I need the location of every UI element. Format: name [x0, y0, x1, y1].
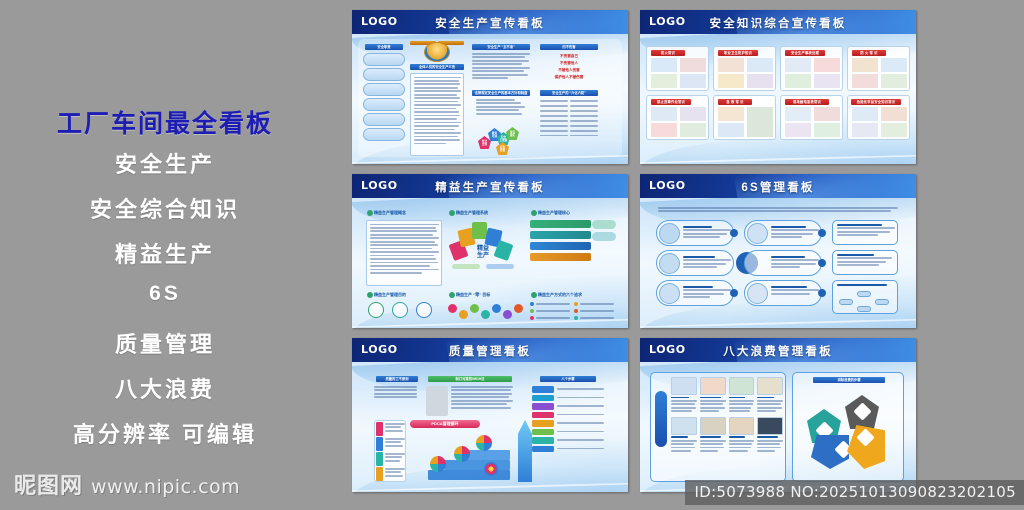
poster-title: 6S管理看板	[640, 179, 916, 195]
illustration	[881, 74, 907, 88]
waste-item[interactable]	[729, 377, 755, 414]
poster-body: 防火常识 职业卫生防护知识 安全生产事故处理	[640, 34, 916, 164]
illustration	[881, 123, 907, 137]
illustration	[718, 74, 744, 88]
five-nos-list	[472, 53, 530, 81]
photo-icon	[659, 223, 680, 244]
promo-line-5: 质量管理	[0, 327, 330, 359]
card-caption: 职业卫生防护知识	[718, 50, 758, 56]
card-caption: 现场触电急救常识	[785, 99, 829, 105]
section-caption: 安全生产的 “六化六防”	[540, 90, 598, 96]
knowledge-card[interactable]: 禁止违章作业常识	[646, 95, 709, 140]
illustration	[651, 58, 677, 72]
poster-body: 安全职责 全体人员的安全生产义务	[352, 34, 628, 164]
6s-item-seiso[interactable]	[656, 280, 734, 306]
card-caption: 危险化学品安全知识常识	[851, 99, 901, 105]
illustration	[785, 123, 811, 137]
watermark: 昵图网 www.nipic.com	[14, 468, 240, 500]
duty-pill-3	[363, 83, 405, 96]
poster-body: 消除浪费的步骤	[640, 362, 916, 492]
waste-item[interactable]	[757, 417, 783, 454]
basic-policy-list	[476, 99, 530, 116]
lean-goal-circles	[368, 302, 442, 320]
illustration	[852, 74, 878, 88]
four-no-harm-item: 不伤害他人	[540, 60, 598, 67]
poster-header: LOGO 安全知识综合宣传看板	[640, 10, 916, 34]
poster-grid: LOGO 安全生产宣传看板 安全职责	[352, 10, 924, 498]
illustration	[747, 58, 773, 72]
question-mark-icon	[426, 386, 448, 416]
section-caption: 精益生产 “零” 目标	[448, 292, 524, 298]
knowledge-card-grid: 防火常识 职业卫生防护知识 安全生产事故处理	[646, 46, 910, 140]
leaf-icon	[367, 210, 373, 216]
poster-safety-production[interactable]: LOGO 安全生产宣传看板 安全职责	[352, 10, 628, 164]
6s-side-block-method[interactable]	[832, 250, 898, 275]
promo-line-3: 精益生产	[0, 237, 330, 269]
6s-item-shitsuke[interactable]	[744, 250, 822, 276]
pdca-legend	[374, 420, 406, 482]
duty-pill-4	[363, 98, 405, 111]
watermark-site-name: 昵图网	[14, 468, 83, 500]
illustration	[852, 107, 878, 121]
6s-intro-text	[658, 207, 898, 214]
waste-grid	[671, 377, 783, 454]
card-caption: 急 救 常 识	[718, 99, 752, 105]
screenshot-canvas: 工厂车间最全看板 安全生产 安全综合知识 精益生产 6S 质量管理 八大浪费 高…	[0, 0, 1024, 510]
duty-pill-1	[363, 53, 405, 66]
illustration	[852, 123, 878, 137]
duty-pill-5	[363, 113, 405, 126]
section-caption: 安全生产 “五不准”	[472, 44, 530, 50]
promo-line-2: 安全综合知识	[0, 192, 330, 224]
duty-text-box	[410, 73, 464, 156]
eight-wastes-panel	[650, 372, 786, 482]
leaf-icon	[449, 210, 455, 216]
rocket-icon	[518, 420, 532, 482]
photo-icon	[659, 253, 680, 274]
promo-line-1: 安全生产	[0, 147, 330, 179]
photo-icon	[747, 283, 768, 304]
eight-wastes-side-label	[655, 391, 667, 447]
poster-title: 安全生产宣传看板	[352, 15, 628, 31]
four-no-harm-item: 保护他人不被伤害	[540, 74, 598, 81]
leaf-icon	[531, 210, 537, 216]
promo-text-column: 工厂车间最全看板 安全生产 安全综合知识 精益生产 6S 质量管理 八大浪费 高…	[0, 0, 340, 510]
section-caption: 精益生产管理概念	[366, 210, 436, 216]
poster-title: 安全知识综合宣传看板	[640, 15, 916, 31]
section-caption: 精益生产管理系统	[448, 210, 518, 216]
four-no-harm-item: 不被他人伤害	[540, 67, 598, 74]
section-caption: 精益生产管理核心	[530, 210, 606, 216]
step-number-badge	[818, 289, 826, 297]
duty-pill-2	[363, 68, 405, 81]
illustration	[785, 74, 811, 88]
6s-item-seiton[interactable]	[656, 250, 734, 276]
lean-concept-text	[366, 220, 442, 286]
safety-emblem-icon	[424, 42, 450, 62]
illustration	[680, 123, 706, 137]
illustration	[881, 107, 907, 121]
eliminate-waste-panel: 消除浪费的步骤	[792, 372, 904, 482]
six-pursuits-list	[530, 302, 618, 320]
illustration	[680, 58, 706, 72]
illustration	[651, 107, 677, 121]
duty-pill-6	[363, 128, 405, 141]
illustration	[814, 107, 840, 121]
card-caption: 安全生产事故处理	[785, 50, 825, 56]
pdca-title: PDCA管理循环	[410, 420, 480, 428]
waste-item[interactable]	[757, 377, 783, 414]
illustration	[747, 107, 773, 137]
image-id-tag: ID:5073988 NO:20251013090823202105	[685, 480, 1024, 505]
photo-icon	[659, 283, 680, 304]
card-caption: 禁止违章作业常识	[651, 99, 691, 105]
promo-line-7: 高分辨率 可编辑	[0, 417, 330, 449]
page-title: 工厂车间最全看板	[0, 104, 330, 140]
leaf-icon	[531, 292, 537, 298]
illustration	[747, 74, 773, 88]
illustration	[814, 74, 840, 88]
section-caption: 法律规定安全生产的基本方针和制度	[472, 90, 530, 96]
poster-body: 精益生产管理概念 精益生产管理目的	[352, 198, 628, 328]
knowledge-card[interactable]: 危险化学品安全知识常识	[847, 95, 910, 140]
poster-header: LOGO 精益生产宣传看板	[352, 174, 628, 198]
eight-steps-list	[532, 386, 608, 452]
card-caption: 防火常识	[651, 50, 685, 56]
knowledge-card[interactable]: 安全生产事故处理	[780, 46, 843, 91]
6s-relation-diagram[interactable]	[832, 280, 898, 314]
section-caption: 八个步骤	[540, 376, 596, 382]
section-caption: 精益生产管理目的	[366, 292, 436, 298]
section-caption: 安全职责	[365, 44, 403, 50]
leaf-icon	[367, 292, 373, 298]
waste-item[interactable]	[729, 417, 755, 454]
poster-header: LOGO 6S管理看板	[640, 174, 916, 198]
6s-side-block-meaning[interactable]	[832, 220, 898, 245]
illustration	[680, 74, 706, 88]
watermark-url: www.nipic.com	[91, 476, 240, 498]
poster-title: 八大浪费管理看板	[640, 343, 916, 359]
poster-quality-management[interactable]: LOGO 质量管理看板 质量的三不原则 制订对策的5W1H法	[352, 338, 628, 492]
poster-safety-knowledge[interactable]: LOGO 安全知识综合宣传看板 防火常识 职业卫生防护知识	[640, 10, 916, 164]
illustration	[881, 58, 907, 72]
four-no-harm-list: 不伤害自己 不伤害他人 不被他人伤害 保护他人不被伤害	[540, 53, 598, 81]
card-caption: 防 火 常 识	[852, 50, 886, 56]
promo-line-6: 八大浪费	[0, 372, 330, 404]
illustration	[718, 107, 744, 121]
section-caption: 精益生产方式的六个追求	[530, 292, 614, 298]
section-caption: 消除浪费的步骤	[813, 377, 885, 383]
poster-body: 质量的三不原则 制订对策的5W1H法	[352, 362, 628, 492]
step-number-badge	[730, 289, 738, 297]
illustration	[718, 58, 744, 72]
knowledge-card[interactable]: 职业卫生防护知识	[713, 46, 776, 91]
poster-header: LOGO 八大浪费管理看板	[640, 338, 916, 362]
lean-core-tag	[592, 232, 616, 241]
five-elements-diagram: 依法合规 教育培训 安全五要素 责任落实 应急处置	[478, 126, 528, 156]
knowledge-card[interactable]: 防 火 常 识	[847, 46, 910, 91]
four-steps-diagram	[801, 391, 897, 477]
section-caption: 全体人员的安全生产义务	[410, 64, 464, 70]
illustration	[852, 58, 878, 72]
step-number-badge	[818, 229, 826, 237]
illustration	[785, 58, 811, 72]
waste-item[interactable]	[700, 417, 726, 454]
5w1h-table	[426, 386, 514, 416]
leaf-icon	[449, 292, 455, 298]
6s-item-seiri[interactable]	[656, 220, 734, 246]
poster-header: LOGO 安全生产宣传看板	[352, 10, 628, 34]
illustration	[785, 107, 811, 121]
illustration	[814, 58, 840, 72]
step-number-badge	[730, 229, 738, 237]
step-number-badge	[818, 259, 826, 267]
poster-6s-management[interactable]: LOGO 6S管理看板	[640, 174, 916, 328]
section-caption: 质量的三不原则	[376, 376, 418, 382]
poster-lean-production[interactable]: LOGO 精益生产宣传看板 精益生产管理概念	[352, 174, 628, 328]
poster-eight-wastes[interactable]: LOGO 八大浪费管理看板	[640, 338, 916, 492]
three-no-list	[374, 386, 420, 400]
promo-line-4: 6S	[0, 282, 330, 306]
waste-item[interactable]	[700, 377, 726, 414]
pdca-staircase	[410, 430, 514, 482]
lean-core-tag	[592, 220, 616, 229]
waste-item[interactable]	[671, 417, 697, 454]
photo-icon	[747, 223, 768, 244]
zero-targets-chain	[448, 302, 528, 320]
poster-header: LOGO 质量管理看板	[352, 338, 628, 362]
poster-title: 精益生产宣传看板	[352, 179, 628, 195]
section-caption: 四不伤害	[540, 44, 598, 50]
illustration	[718, 123, 744, 137]
poster-body	[640, 198, 916, 328]
lean-hub-diagram: 精益生产	[448, 220, 520, 282]
waste-item[interactable]	[671, 377, 697, 414]
illustration	[680, 107, 706, 121]
knowledge-card[interactable]: 现场触电急救常识	[780, 95, 843, 140]
illustration	[814, 123, 840, 137]
four-no-harm-item: 不伤害自己	[540, 53, 598, 60]
6s-item-seiketsu[interactable]	[744, 220, 822, 246]
illustration	[651, 74, 677, 88]
6s-item-security[interactable]	[744, 280, 822, 306]
poster-title: 质量管理看板	[352, 343, 628, 359]
knowledge-card[interactable]: 防火常识	[646, 46, 709, 91]
six-preventions-list	[540, 100, 600, 138]
pdca-title-banner: PDCA管理循环	[410, 420, 480, 428]
illustration	[651, 123, 677, 137]
knowledge-card[interactable]: 急 救 常 识	[713, 95, 776, 140]
section-caption: 制订对策的5W1H法	[428, 376, 512, 382]
